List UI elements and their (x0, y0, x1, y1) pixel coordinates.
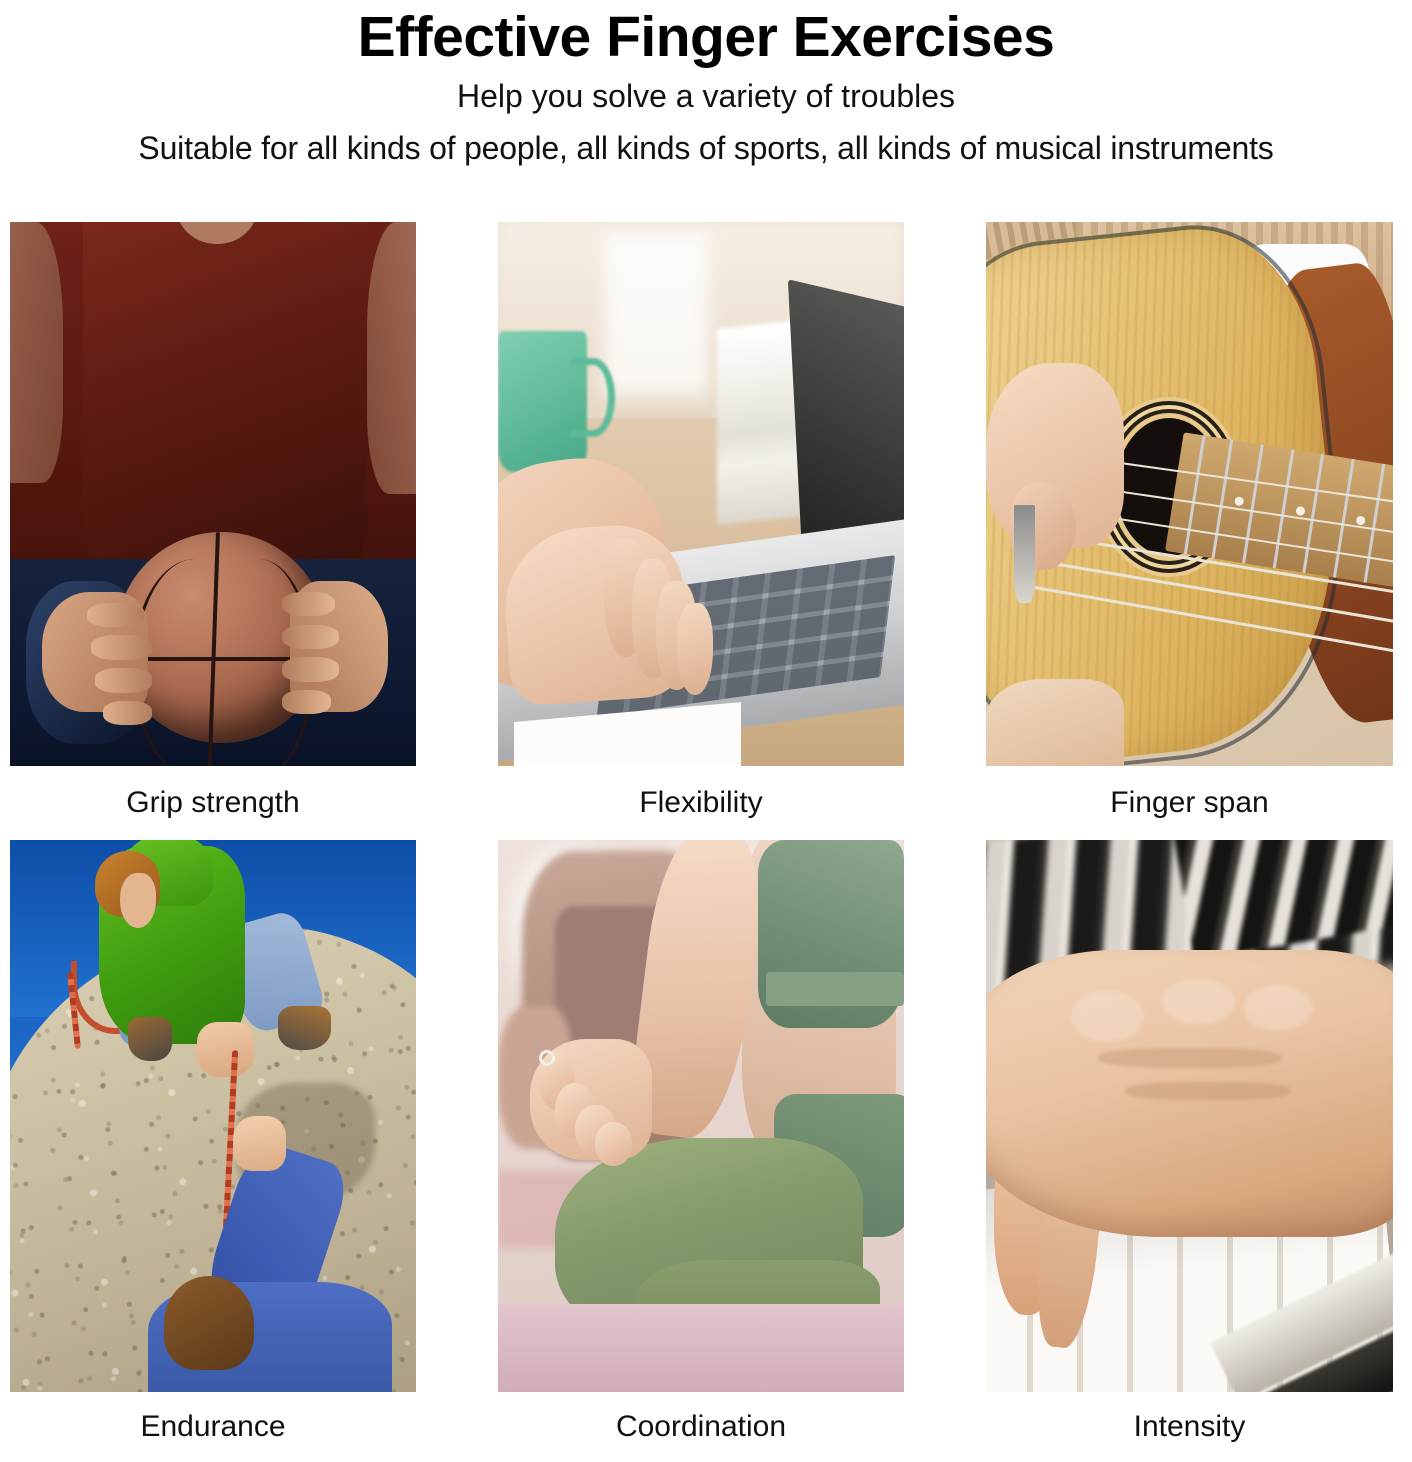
benefit-cell-coordination: Coordination (498, 840, 904, 1462)
photo-coordination (498, 840, 904, 1392)
photo-finger-span (986, 222, 1393, 766)
benefits-grid: Grip strength Flexibility (10, 222, 1405, 1462)
photo-flexibility (498, 222, 904, 766)
benefit-cell-grip-strength: Grip strength (10, 222, 416, 840)
benefit-cell-finger-span: Finger span (986, 222, 1393, 840)
caption-grip-strength: Grip strength (10, 766, 416, 840)
benefit-cell-endurance: Endurance (10, 840, 416, 1462)
caption-coordination: Coordination (498, 1392, 904, 1462)
page-title: Effective Finger Exercises (0, 4, 1412, 70)
caption-intensity: Intensity (986, 1392, 1393, 1462)
caption-endurance: Endurance (10, 1392, 416, 1462)
caption-flexibility: Flexibility (498, 766, 904, 840)
caption-finger-span: Finger span (986, 766, 1393, 840)
subtitle-line-2: Suitable for all kinds of people, all ki… (0, 122, 1412, 174)
photo-intensity (986, 840, 1393, 1392)
subtitle-line-1: Help you solve a variety of troubles (0, 70, 1412, 122)
photo-endurance (10, 840, 416, 1392)
benefit-cell-intensity: Intensity (986, 840, 1393, 1462)
benefit-cell-flexibility: Flexibility (498, 222, 904, 840)
photo-grip-strength (10, 222, 416, 766)
header: Effective Finger Exercises Help you solv… (0, 0, 1412, 174)
